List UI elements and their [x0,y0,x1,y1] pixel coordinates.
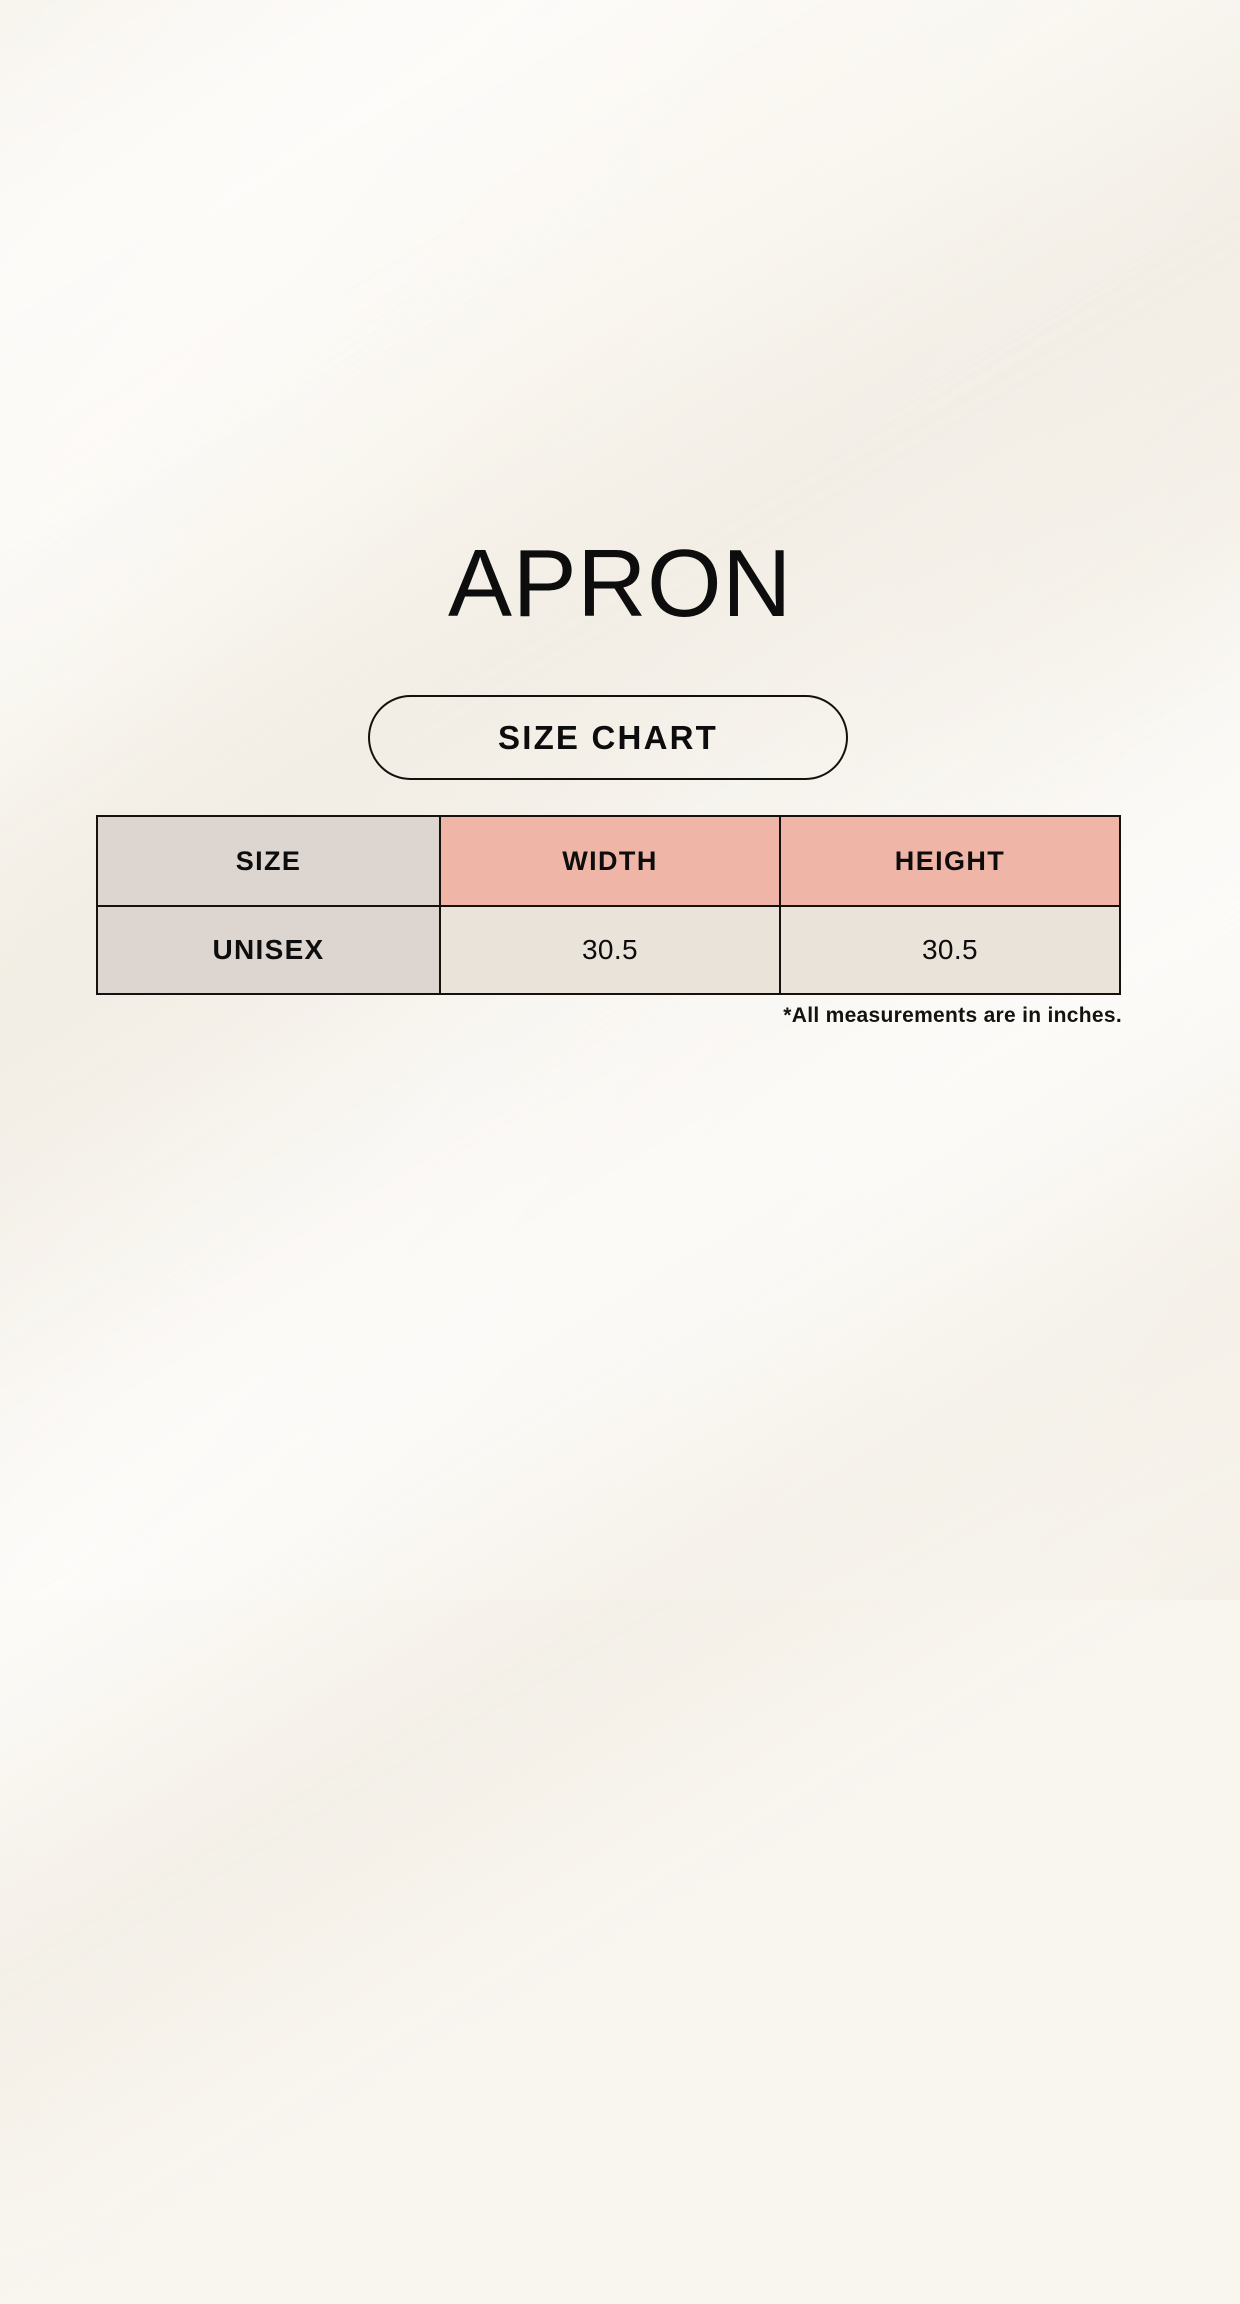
size-table: SIZE WIDTH HEIGHT UNISEX 30.5 30.5 [96,815,1121,995]
column-header-size: SIZE [97,816,440,906]
cell-height-unisex: 30.5 [780,906,1120,994]
size-chart-badge: SIZE CHART [368,695,848,780]
column-header-width: WIDTH [440,816,780,906]
size-chart-badge-label: SIZE CHART [498,719,718,757]
size-table-container: SIZE WIDTH HEIGHT UNISEX 30.5 30.5 [96,815,1119,995]
table-header-row: SIZE WIDTH HEIGHT [97,816,1120,906]
measurements-footnote: *All measurements are in inches. [96,1004,1122,1028]
size-chart-page: APRON SIZE CHART SIZE WIDTH HEIGHT [0,0,1240,1600]
page-title: APRON [0,536,1240,632]
column-header-height: HEIGHT [780,816,1120,906]
table-row: UNISEX 30.5 30.5 [97,906,1120,994]
cell-size-unisex: UNISEX [97,906,440,994]
cell-width-unisex: 30.5 [440,906,780,994]
